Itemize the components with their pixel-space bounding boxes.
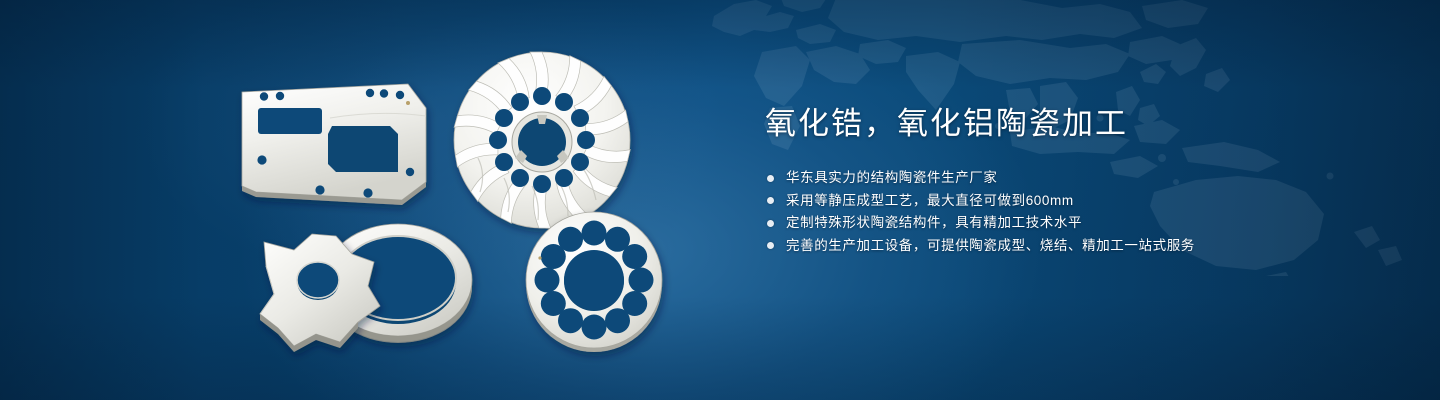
list-item: 采用等静压成型工艺，最大直径可做到600mm bbox=[765, 190, 1385, 212]
bullet-dot-icon bbox=[767, 242, 774, 249]
list-item-label: 完善的生产加工设备，可提供陶瓷成型、烧结、精加工一站式服务 bbox=[786, 235, 1195, 257]
product-image-cluster bbox=[230, 40, 700, 385]
ceramic-hole-disc bbox=[526, 212, 662, 352]
ceramic-plate bbox=[242, 84, 426, 205]
hero-banner: 氧化锆，氧化铝陶瓷加工 华东具实力的结构陶瓷件生产厂家 采用等静压成型工艺，最大… bbox=[0, 0, 1440, 400]
ceramic-impeller bbox=[454, 52, 630, 228]
list-item: 华东具实力的结构陶瓷件生产厂家 bbox=[765, 167, 1385, 189]
page-title: 氧化锆，氧化铝陶瓷加工 bbox=[765, 104, 1385, 144]
list-item: 完善的生产加工设备，可提供陶瓷成型、烧结、精加工一站式服务 bbox=[765, 235, 1385, 257]
bullet-dot-icon bbox=[767, 175, 774, 182]
bullet-dot-icon bbox=[767, 220, 774, 227]
list-item-label: 采用等静压成型工艺，最大直径可做到600mm bbox=[786, 190, 1074, 212]
banner-text-column: 氧化锆，氧化铝陶瓷加工 华东具实力的结构陶瓷件生产厂家 采用等静压成型工艺，最大… bbox=[765, 104, 1385, 257]
bullet-dot-icon bbox=[767, 197, 774, 204]
list-item-label: 华东具实力的结构陶瓷件生产厂家 bbox=[786, 167, 998, 189]
list-item: 定制特殊形状陶瓷结构件，具有精加工技术水平 bbox=[765, 212, 1385, 234]
feature-list: 华东具实力的结构陶瓷件生产厂家 采用等静压成型工艺，最大直径可做到600mm 定… bbox=[765, 167, 1385, 257]
list-item-label: 定制特殊形状陶瓷结构件，具有精加工技术水平 bbox=[786, 212, 1082, 234]
